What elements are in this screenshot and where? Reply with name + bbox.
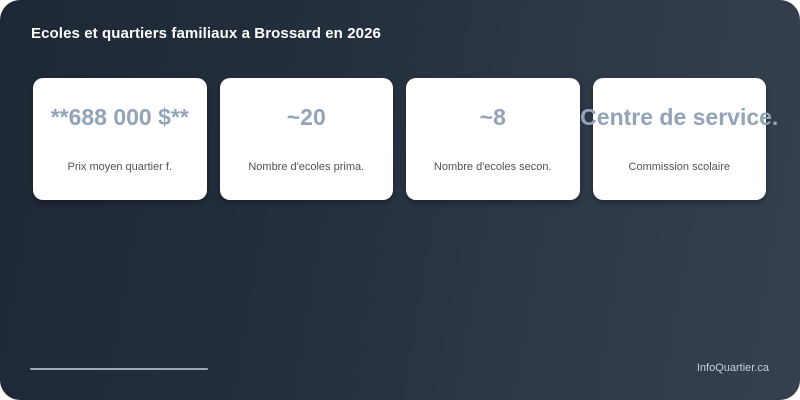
kpi-value: ~20 (287, 106, 326, 129)
footer-divider (30, 368, 208, 370)
kpi-card-row: **688 000 $** Prix moyen quartier f. ~20… (33, 78, 766, 200)
kpi-value: **688 000 $** (51, 106, 189, 129)
kpi-card-ecoles-primaires: ~20 Nombre d'ecoles prima. (220, 78, 394, 200)
kpi-label: Nombre d'ecoles secon. (434, 162, 552, 173)
kpi-card-prix-moyen: **688 000 $** Prix moyen quartier f. (33, 78, 207, 200)
kpi-label: Nombre d'ecoles prima. (248, 162, 364, 173)
footer-source-label: InfoQuartier.ca (697, 362, 769, 374)
kpi-label: Commission scolaire (629, 162, 730, 173)
kpi-card-commission-scolaire: Centre de service. Commission scolaire (593, 78, 767, 200)
kpi-card-ecoles-secondaires: ~8 Nombre d'ecoles secon. (406, 78, 580, 200)
kpi-label: Prix moyen quartier f. (67, 162, 172, 173)
kpi-value: ~8 (480, 106, 506, 129)
kpi-value: Centre de service. (580, 106, 778, 129)
page-title: Ecoles et quartiers familiaux a Brossard… (31, 25, 381, 42)
infographic-panel: Ecoles et quartiers familiaux a Brossard… (0, 0, 800, 400)
